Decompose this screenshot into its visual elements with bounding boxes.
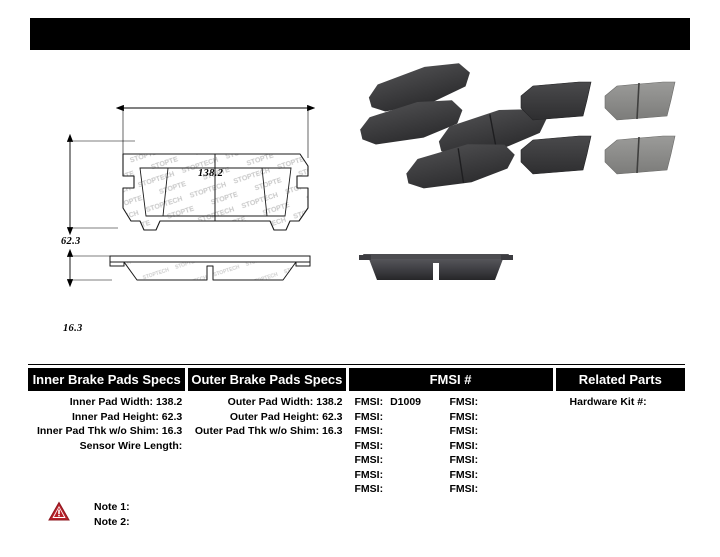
fmsi-row: FMSI: [355, 410, 450, 425]
fmsi-value [383, 425, 390, 437]
fmsi-row: FMSI: [450, 410, 545, 425]
cell-related-parts: Hardware Kit #: [556, 395, 685, 497]
note-line: Note 1: [94, 500, 130, 515]
fmsi-value: D1009 [383, 396, 421, 408]
note-line: Note 2: [94, 515, 130, 530]
header-outer-specs: Outer Brake Pads Specs [188, 368, 345, 391]
fmsi-label: FMSI: [355, 454, 384, 466]
fmsi-label: FMSI: [450, 454, 479, 466]
notes-block: Note 1:Note 2: [48, 500, 130, 530]
fmsi-value [478, 469, 485, 481]
fmsi-column-right: FMSI:FMSI:FMSI:FMSI:FMSI:FMSI:FMSI: [450, 395, 545, 497]
title-bar: 309.10090 Brake Pad [30, 18, 690, 50]
fmsi-value [478, 483, 485, 495]
fmsi-value [478, 454, 485, 466]
fmsi-row: FMSI: [450, 395, 545, 410]
height-dimension-label: 62.3 [61, 236, 81, 247]
header-inner-specs: Inner Brake Pads Specs [28, 368, 185, 391]
technical-drawing: STOPTECH STOPTECH STOPTECH [0, 58, 355, 338]
fmsi-label: FMSI: [450, 483, 479, 495]
fmsi-label: FMSI: [355, 440, 384, 452]
fmsi-label: FMSI: [450, 425, 479, 437]
notes-text: Note 1:Note 2: [94, 500, 130, 530]
inner-spec-line: Inner Pad Thk w/o Shim: 16.3 [28, 424, 182, 439]
brake-pad-side-view [110, 256, 310, 280]
fmsi-row: FMSI: [450, 482, 545, 497]
fmsi-row: FMSI: [355, 424, 450, 439]
fmsi-value [383, 440, 390, 452]
width-dimension-label: 138.2 [198, 168, 223, 179]
product-type: Brake Pad [601, 25, 676, 43]
cell-inner-specs: Inner Pad Width: 138.2Inner Pad Height: … [28, 395, 185, 497]
header-fmsi: FMSI # [349, 368, 553, 391]
fmsi-row: FMSI: [450, 439, 545, 454]
width-dimension [123, 108, 308, 158]
warning-triangle-icon [48, 501, 70, 522]
fmsi-column-left: FMSI:D1009FMSI:FMSI:FMSI:FMSI:FMSI:FMSI: [355, 395, 450, 497]
cell-outer-specs: Outer Pad Width: 138.2Outer Pad Height: … [188, 395, 345, 497]
photo-pads-grid [521, 82, 675, 174]
fmsi-label: FMSI: [450, 396, 479, 408]
photos-svg [355, 58, 720, 338]
fmsi-row: FMSI: [355, 439, 450, 454]
fmsi-value [383, 454, 390, 466]
fmsi-row: FMSI:D1009 [355, 395, 450, 410]
fmsi-label: FMSI: [450, 411, 479, 423]
fmsi-row: FMSI: [450, 424, 545, 439]
photo-pads-angled [357, 58, 551, 195]
fmsi-value [383, 469, 390, 481]
fmsi-row: FMSI: [355, 482, 450, 497]
fmsi-label: FMSI: [355, 469, 384, 481]
thickness-dimension-label: 16.3 [63, 323, 83, 334]
header-related-parts: Related Parts [556, 368, 685, 391]
fmsi-label: FMSI: [355, 411, 384, 423]
inner-spec-line: Inner Pad Height: 62.3 [28, 410, 182, 425]
table-body-row: Inner Pad Width: 138.2Inner Pad Height: … [28, 395, 685, 497]
fmsi-value [383, 483, 390, 495]
fmsi-value [383, 411, 390, 423]
related-part-line: Hardware Kit #: [570, 395, 685, 410]
product-photos [355, 58, 720, 338]
brake-pad-front-view [123, 154, 308, 230]
fmsi-value [478, 411, 485, 423]
fmsi-row: FMSI: [450, 453, 545, 468]
fmsi-row: FMSI: [355, 468, 450, 483]
fmsi-row: FMSI: [450, 468, 545, 483]
fmsi-label: FMSI: [450, 440, 479, 452]
outer-spec-line: Outer Pad Width: 138.2 [188, 395, 342, 410]
fmsi-label: FMSI: [355, 483, 384, 495]
table-top-rule [28, 364, 685, 365]
part-number: 309.10090 [44, 25, 120, 43]
fmsi-row: FMSI: [355, 453, 450, 468]
fmsi-label: FMSI: [355, 396, 384, 408]
thickness-dimension [70, 256, 112, 280]
inner-spec-line: Sensor Wire Length: [28, 439, 182, 454]
drawing-svg: STOPTECH STOPTECH STOPTECH [0, 58, 355, 338]
fmsi-value [478, 396, 485, 408]
photo-pad-edge [359, 254, 513, 280]
fmsi-label: FMSI: [355, 425, 384, 437]
cell-fmsi: FMSI:D1009FMSI:FMSI:FMSI:FMSI:FMSI:FMSI:… [349, 395, 553, 497]
fmsi-value [478, 425, 485, 437]
outer-spec-line: Outer Pad Height: 62.3 [188, 410, 342, 425]
fmsi-label: FMSI: [450, 469, 479, 481]
inner-spec-line: Inner Pad Width: 138.2 [28, 395, 182, 410]
outer-spec-line: Outer Pad Thk w/o Shim: 16.3 [188, 424, 342, 439]
fmsi-value [478, 440, 485, 452]
table-header-row: Inner Brake Pads Specs Outer Brake Pads … [28, 368, 685, 391]
